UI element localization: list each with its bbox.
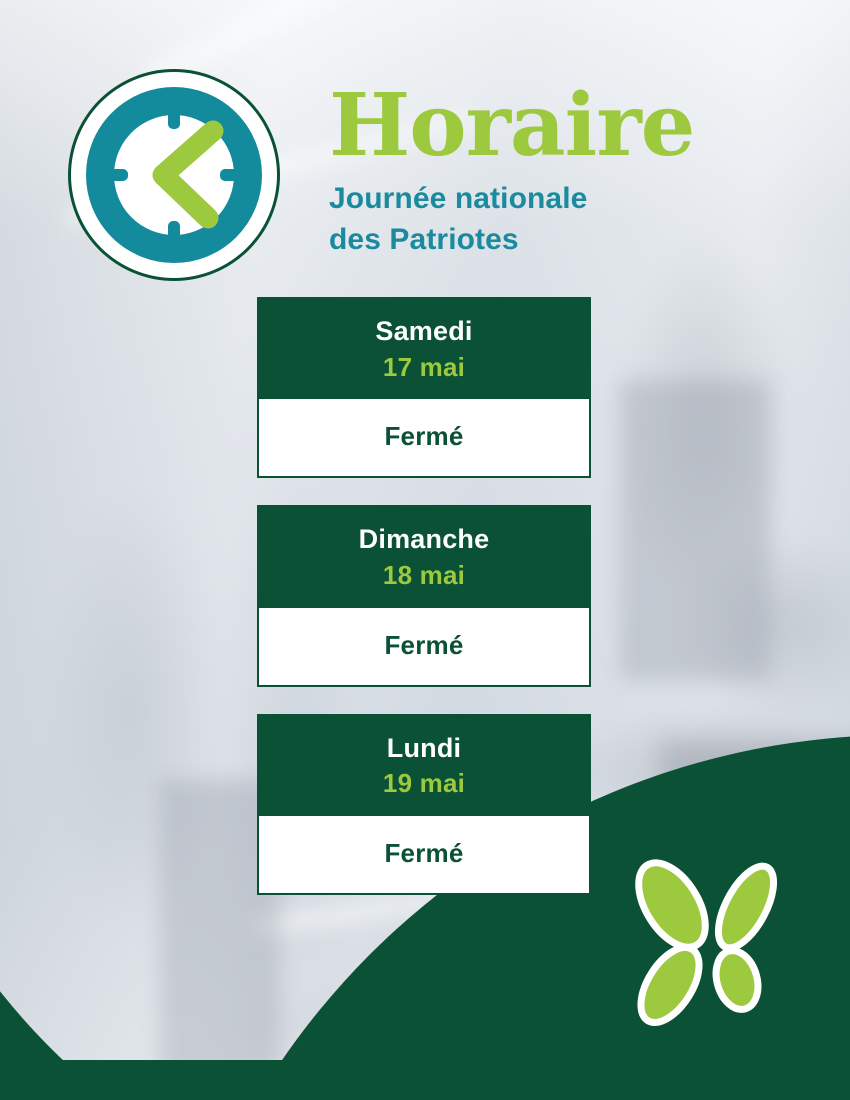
schedule-card-list: Samedi 17 mai Fermé Dimanche 18 mai Ferm…	[257, 297, 591, 895]
page-subtitle-line1: Journée nationale	[329, 179, 749, 220]
schedule-card-date: 18 mai	[267, 559, 581, 592]
page-title: Horaire	[329, 86, 749, 165]
clock-icon	[67, 68, 281, 282]
schedule-card-date: 19 mai	[267, 767, 581, 800]
schedule-card-date: 17 mai	[267, 351, 581, 384]
butterfly-logo-icon	[620, 855, 800, 1035]
page-subtitle-line2: des Patriotes	[329, 220, 749, 261]
schedule-card-status: Fermé	[269, 838, 579, 869]
schedule-card-body: Fermé	[257, 816, 591, 895]
schedule-card-body: Fermé	[257, 399, 591, 478]
schedule-card-body: Fermé	[257, 608, 591, 687]
schedule-card-header: Samedi 17 mai	[257, 297, 591, 399]
schedule-card-header: Lundi 19 mai	[257, 714, 591, 816]
green-bottom-band	[0, 1060, 850, 1100]
schedule-card: Lundi 19 mai Fermé	[257, 714, 591, 895]
poster-canvas: Horaire Journée nationale des Patriotes …	[0, 0, 850, 1100]
schedule-card-day: Lundi	[267, 732, 581, 766]
schedule-card: Samedi 17 mai Fermé	[257, 297, 591, 478]
schedule-card-status: Fermé	[269, 421, 579, 452]
schedule-card-status: Fermé	[269, 630, 579, 661]
background-shadow	[620, 380, 770, 680]
schedule-card-day: Samedi	[267, 315, 581, 349]
schedule-card-header: Dimanche 18 mai	[257, 505, 591, 607]
schedule-card-day: Dimanche	[267, 523, 581, 557]
heading-block: Horaire Journée nationale des Patriotes	[329, 86, 749, 260]
page-subtitle: Journée nationale des Patriotes	[329, 179, 749, 260]
schedule-card: Dimanche 18 mai Fermé	[257, 505, 591, 686]
